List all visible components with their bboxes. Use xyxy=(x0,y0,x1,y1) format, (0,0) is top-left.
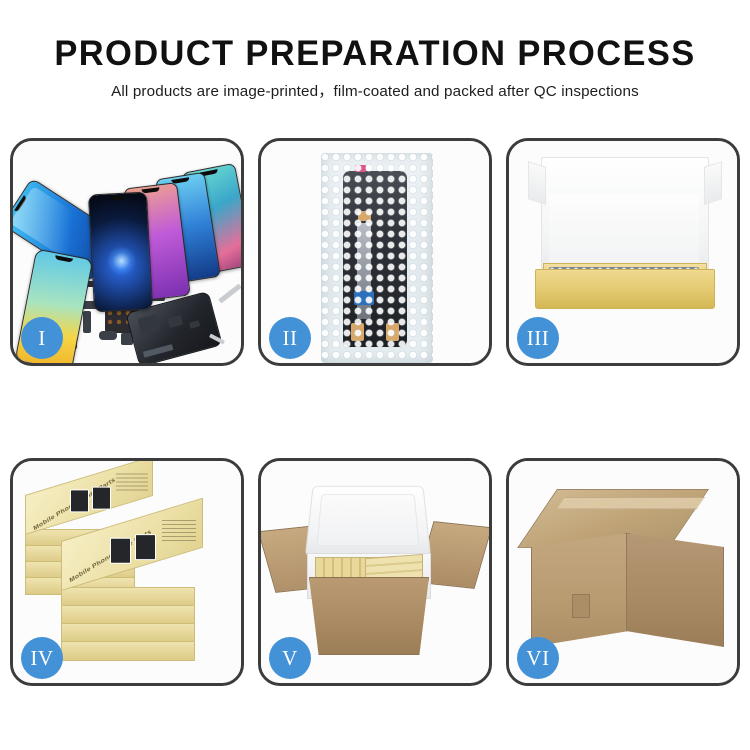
process-step-grid: I II xyxy=(10,138,740,686)
foam-block-icon xyxy=(549,195,699,271)
box-screen-photo-icon xyxy=(92,487,111,510)
box-screen-photo-icon xyxy=(110,538,131,564)
foam-lid-open-icon xyxy=(305,486,431,557)
stacked-box xyxy=(61,623,195,643)
stacked-box xyxy=(61,641,195,661)
step-badge-1: I xyxy=(21,317,63,359)
tool-tweezers-icon xyxy=(218,284,241,304)
step-badge-5: V xyxy=(269,637,311,679)
stacked-box xyxy=(61,587,195,607)
carton-right-face xyxy=(626,533,724,647)
step-badge-6: VI xyxy=(517,637,559,679)
yellow-box-tray-icon xyxy=(535,269,715,309)
step-badge-2: II xyxy=(269,317,311,359)
carton-left-face xyxy=(531,533,629,647)
carton-body-icon xyxy=(309,577,429,655)
box-spec-lines xyxy=(162,520,196,542)
sealed-carton-icon xyxy=(531,489,723,653)
carton-seam-upper xyxy=(572,594,590,618)
process-step-panel-2: II xyxy=(258,138,492,366)
stacked-box xyxy=(61,605,195,625)
product-preparation-infographic: PRODUCT PREPARATION PROCESS All products… xyxy=(0,0,750,750)
step-badge-4: IV xyxy=(21,637,63,679)
carton-seam-lower xyxy=(574,666,590,682)
box-screen-photo-icon xyxy=(70,489,89,512)
page-subtitle: All products are image-printed，film-coat… xyxy=(0,82,750,102)
header: PRODUCT PREPARATION PROCESS All products… xyxy=(0,34,750,102)
bubble-wrap-bag-icon xyxy=(321,153,433,363)
box-spec-lines xyxy=(116,473,148,493)
part-flex-cable-2-icon xyxy=(83,311,91,333)
process-step-panel-5: V xyxy=(258,458,492,686)
phone-screen-dark-burst-icon xyxy=(88,192,153,313)
step-badge-3: III xyxy=(517,317,559,359)
process-step-panel-4: Mobile Phone Spare Parts Mobile Phone Sp… xyxy=(10,458,244,686)
box-screen-photo-icon xyxy=(135,534,156,560)
part-speaker-icon xyxy=(99,331,117,340)
process-step-panel-6: VI xyxy=(506,458,740,686)
process-step-panel-1: I xyxy=(10,138,244,366)
page-title: PRODUCT PREPARATION PROCESS xyxy=(6,34,745,74)
bubble-texture-icon xyxy=(321,153,433,363)
carton-tape-strip xyxy=(557,497,705,509)
process-step-panel-3: III xyxy=(506,138,740,366)
